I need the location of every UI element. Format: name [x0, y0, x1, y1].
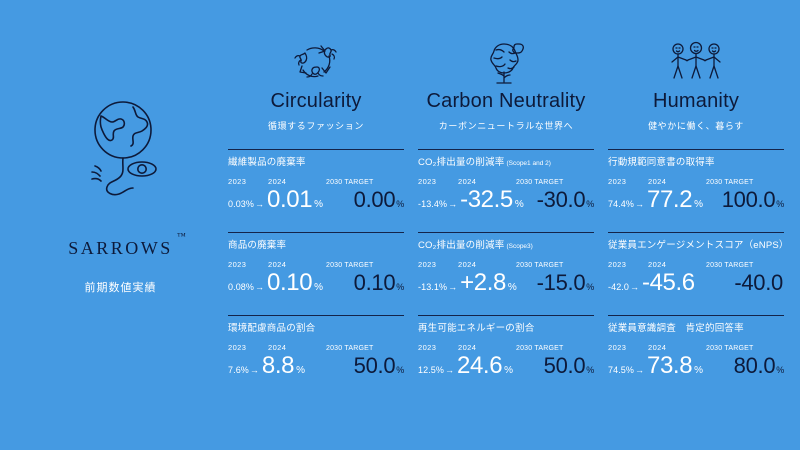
current-value: 0.01% [267, 188, 323, 212]
pillar-title: Humanity [608, 90, 784, 112]
target-unit: % [585, 365, 594, 375]
current-unit: % [502, 365, 513, 376]
current-unit: % [692, 199, 703, 210]
year-prev-label: 2023 [608, 343, 648, 352]
metric-values: -13.1% → +2.8% -15.0% [418, 271, 594, 295]
metric-label: 従業員エンゲージメントスコア（eNPS） [608, 240, 784, 253]
globe-balloon-eye-sketch-icon [18, 96, 223, 226]
current-unit: % [692, 365, 703, 376]
metric-item: CO₂排出量の削減率(Scope3) 2023 2024 2030 TARGET… [418, 232, 594, 306]
brand-wordmark: Sarrows ™ [68, 234, 173, 259]
metric-label-text: CO₂排出量の削減率 [418, 240, 504, 251]
year-prev-label: 2023 [608, 260, 648, 269]
target-header-label: 2030 TARGET [516, 179, 563, 186]
target-unit: % [775, 365, 784, 375]
metric-label-text: CO₂排出量の削減率 [418, 157, 504, 168]
pillar-column-carbon-neutrality: Carbon Neutrality カーボンニュートラルな世界へ CO₂排出量の… [418, 34, 594, 398]
metric-label-text: 再生可能エネルギーの割合 [418, 323, 534, 334]
pillar-columns: Circularity 循環するファッション 繊維製品の廃棄率 2023 202… [228, 34, 784, 398]
metric-year-headers: 2023 2024 2030 TARGET [608, 260, 784, 269]
target-header-label: 2030 TARGET [326, 179, 373, 186]
metric-values: 74.4% → 77.2% 100.0% [608, 188, 784, 212]
previous-value: -42.0 [608, 282, 629, 292]
year-prev-label: 2023 [418, 343, 458, 352]
pillar-column-circularity: Circularity 循環するファッション 繊維製品の廃棄率 2023 202… [228, 34, 404, 398]
metric-values: 7.6% → 8.8% 50.0% [228, 354, 404, 378]
metric-label: 繊維製品の廃棄率 [228, 157, 404, 170]
metric-label: CO₂排出量の削減率(Scope1 and 2) [418, 157, 594, 170]
metric-item: 従業員意識調査 肯定的回答率 2023 2024 2030 TARGET 74.… [608, 315, 784, 389]
previous-value: 74.5% [608, 365, 634, 375]
target-header-label: 2030 TARGET [326, 262, 373, 269]
target-unit: % [585, 199, 594, 209]
recycling-leaves-icon [228, 34, 404, 90]
metric-item: CO₂排出量の削減率(Scope1 and 2) 2023 2024 2030 … [418, 149, 594, 223]
metric-label: 商品の廃棄率 [228, 240, 404, 253]
metric-year-headers: 2023 2024 2030 TARGET [418, 343, 594, 352]
pillar-column-humanity: Humanity 健やかに働く、暮らす 行動規範同意書の取得率 2023 202… [608, 34, 784, 398]
year-current-label: 2024 [648, 260, 706, 269]
target-unit: % [585, 282, 594, 292]
metric-year-headers: 2023 2024 2030 TARGET [418, 260, 594, 269]
metric-label: 環境配慮商品の割合 [228, 323, 404, 336]
metric-item: 商品の廃棄率 2023 2024 2030 TARGET 0.08% → 0.1… [228, 232, 404, 306]
year-prev-label: 2023 [608, 177, 648, 186]
current-value: 77.2% [647, 188, 703, 212]
target-unit: % [775, 199, 784, 209]
pillar-subtitle: カーボンニュートラルな世界へ [418, 119, 594, 132]
metric-year-headers: 2023 2024 2030 TARGET [228, 343, 404, 352]
year-current-label: 2024 [268, 343, 326, 352]
target-header-label: 2030 TARGET [706, 345, 753, 352]
target-unit [783, 282, 784, 292]
metric-label-text: 行動規範同意書の取得率 [608, 157, 715, 168]
target-value: -15.0% [537, 272, 594, 294]
year-current-label: 2024 [458, 177, 516, 186]
target-unit: % [395, 365, 404, 375]
target-header-label: 2030 TARGET [516, 345, 563, 352]
current-unit: % [506, 282, 517, 293]
target-header-label: 2030 TARGET [326, 345, 373, 352]
arrow-icon: → [634, 199, 647, 209]
target-header-label: 2030 TARGET [706, 179, 753, 186]
year-prev-label: 2023 [418, 260, 458, 269]
previous-value: -13.4% [418, 199, 447, 209]
previous-value: 0.03% [228, 199, 254, 209]
target-value: 0.00% [354, 189, 404, 211]
metric-label: 行動規範同意書の取得率 [608, 157, 784, 170]
tree-cloud-icon [418, 34, 594, 90]
metric-item: 従業員エンゲージメントスコア（eNPS） 2023 2024 2030 TARG… [608, 232, 784, 306]
metric-year-headers: 2023 2024 2030 TARGET [228, 177, 404, 186]
pillar-subtitle: 健やかに働く、暮らす [608, 119, 784, 132]
metric-label-text: 従業員意識調査 肯定的回答率 [608, 323, 744, 334]
target-value: 50.0% [354, 355, 404, 377]
metric-label-note: (Scope3) [504, 243, 532, 250]
current-value: 0.10% [267, 271, 323, 295]
metric-item: 環境配慮商品の割合 2023 2024 2030 TARGET 7.6% → 8… [228, 315, 404, 389]
year-prev-label: 2023 [228, 177, 268, 186]
current-unit: % [312, 282, 323, 293]
metric-item: 繊維製品の廃棄率 2023 2024 2030 TARGET 0.03% → 0… [228, 149, 404, 223]
target-value: 100.0% [722, 189, 784, 211]
metric-values: 0.08% → 0.10% 0.10% [228, 271, 404, 295]
previous-value: -13.1% [418, 282, 447, 292]
year-current-label: 2024 [268, 260, 326, 269]
pillar-title: Circularity [228, 90, 404, 112]
metric-item: 再生可能エネルギーの割合 2023 2024 2030 TARGET 12.5%… [418, 315, 594, 389]
target-value: 0.10% [354, 272, 404, 294]
pillar-subtitle: 循環するファッション [228, 119, 404, 132]
target-unit: % [395, 199, 404, 209]
previous-value: 7.6% [228, 365, 249, 375]
metric-values: 0.03% → 0.01% 0.00% [228, 188, 404, 212]
arrow-icon: → [447, 199, 460, 209]
current-unit [695, 282, 697, 293]
metric-label: 従業員意識調査 肯定的回答率 [608, 323, 784, 336]
metric-values: 12.5% → 24.6% 50.0% [418, 354, 594, 378]
arrow-icon: → [634, 365, 647, 375]
arrow-icon: → [444, 365, 457, 375]
target-value: 80.0% [734, 355, 784, 377]
metric-list: 行動規範同意書の取得率 2023 2024 2030 TARGET 74.4% … [608, 149, 784, 389]
metric-values: -42.0 → -45.6 -40.0 [608, 271, 784, 295]
year-current-label: 2024 [458, 343, 516, 352]
target-value: 50.0% [544, 355, 594, 377]
metric-label-note: (Scope1 and 2) [504, 160, 550, 167]
brand-block: Sarrows ™ 前期数値実績 [18, 96, 223, 295]
current-unit: % [513, 199, 524, 210]
metric-year-headers: 2023 2024 2030 TARGET [228, 260, 404, 269]
target-unit: % [395, 282, 404, 292]
arrow-icon: → [254, 282, 267, 292]
target-header-label: 2030 TARGET [516, 262, 563, 269]
metric-label-text: 繊維製品の廃棄率 [228, 157, 306, 168]
year-prev-label: 2023 [418, 177, 458, 186]
year-current-label: 2024 [458, 260, 516, 269]
current-unit: % [294, 365, 305, 376]
metric-item: 行動規範同意書の取得率 2023 2024 2030 TARGET 74.4% … [608, 149, 784, 223]
year-prev-label: 2023 [228, 343, 268, 352]
sustainability-results-slide: Sarrows ™ 前期数値実績 Circularit [0, 0, 800, 450]
year-current-label: 2024 [648, 343, 706, 352]
current-value: 8.8% [262, 354, 305, 378]
target-header-label: 2030 TARGET [706, 262, 753, 269]
current-value: -32.5% [460, 188, 523, 212]
arrow-icon: → [629, 282, 642, 292]
metric-year-headers: 2023 2024 2030 TARGET [418, 177, 594, 186]
arrow-icon: → [249, 365, 262, 375]
arrow-icon: → [447, 282, 460, 292]
previous-value: 0.08% [228, 282, 254, 292]
current-value: 73.8% [647, 354, 703, 378]
metric-label-text: 商品の廃棄率 [228, 240, 286, 251]
current-unit: % [312, 199, 323, 210]
metric-list: CO₂排出量の削減率(Scope1 and 2) 2023 2024 2030 … [418, 149, 594, 389]
target-value: -40.0 [734, 272, 784, 294]
current-value: 24.6% [457, 354, 513, 378]
previous-value: 12.5% [418, 365, 444, 375]
trademark-symbol: ™ [177, 232, 186, 241]
year-prev-label: 2023 [228, 260, 268, 269]
pillar-title: Carbon Neutrality [418, 90, 594, 112]
metric-list: 繊維製品の廃棄率 2023 2024 2030 TARGET 0.03% → 0… [228, 149, 404, 389]
metric-year-headers: 2023 2024 2030 TARGET [608, 343, 784, 352]
three-people-holding-hands-icon [608, 34, 784, 90]
year-current-label: 2024 [648, 177, 706, 186]
arrow-icon: → [254, 199, 267, 209]
current-value: +2.8% [460, 271, 516, 295]
metric-label: CO₂排出量の削減率(Scope3) [418, 240, 594, 253]
metric-year-headers: 2023 2024 2030 TARGET [608, 177, 784, 186]
metric-values: 74.5% → 73.8% 80.0% [608, 354, 784, 378]
metric-values: -13.4% → -32.5% -30.0% [418, 188, 594, 212]
current-value: -45.6 [642, 271, 697, 295]
year-current-label: 2024 [268, 177, 326, 186]
brand-wordmark-text: Sarrows [68, 233, 173, 260]
metric-label-text: 従業員エンゲージメントスコア（eNPS） [608, 240, 789, 251]
brand-caption: 前期数値実績 [18, 279, 223, 295]
target-value: -30.0% [537, 189, 594, 211]
previous-value: 74.4% [608, 199, 634, 209]
metric-label-text: 環境配慮商品の割合 [228, 323, 315, 334]
metric-label: 再生可能エネルギーの割合 [418, 323, 594, 336]
